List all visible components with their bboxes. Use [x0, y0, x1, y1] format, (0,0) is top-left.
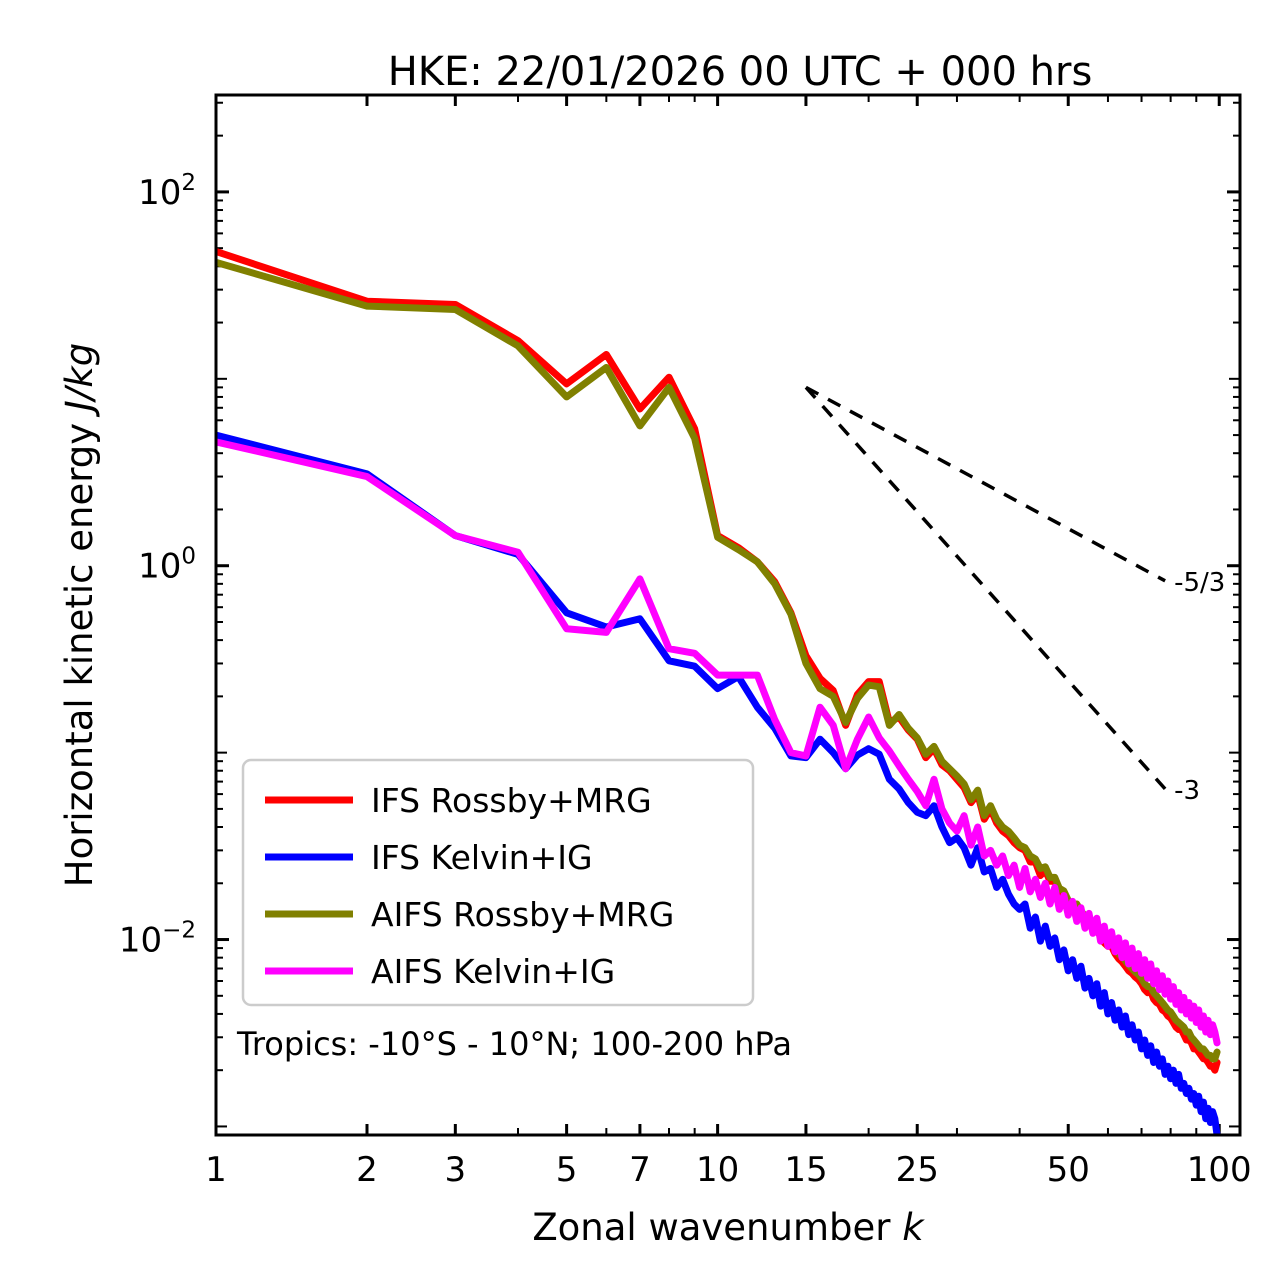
y-tick-mantissa: 10	[138, 173, 181, 213]
y-tick-label: 100	[138, 544, 196, 587]
domain-annotation: Tropics: -10°S - 10°N; 100-200 hPa	[236, 1025, 792, 1063]
hke-spectrum-chart: HKE: 22/01/2026 00 UTC + 000 hrs Horizon…	[0, 0, 1280, 1288]
reference-line-label: -5/3	[1174, 568, 1225, 598]
y-axis-label: Horizontal kinetic energy J/kg	[58, 343, 101, 887]
x-tick-label: 2	[356, 1150, 378, 1190]
y-axis-label-units: J/kg	[58, 343, 101, 418]
chart-annotations: Tropics: -10°S - 10°N; 100-200 hPa	[236, 1025, 792, 1063]
x-axis-label-main: Zonal wavenumber	[532, 1206, 902, 1249]
x-tick-label: 15	[784, 1150, 827, 1190]
svg-text:Horizontal kinetic energy J/kg: Horizontal kinetic energy J/kg	[58, 343, 101, 887]
legend-label: AIFS Kelvin+IG	[371, 952, 615, 991]
x-axis-label-symbol: k	[902, 1206, 925, 1249]
y-tick-exponent: 2	[181, 170, 196, 196]
chart-title: HKE: 22/01/2026 00 UTC + 000 hrs	[388, 49, 1093, 95]
legend-label: IFS Kelvin+IG	[371, 838, 593, 877]
legend-label: IFS Rossby+MRG	[371, 781, 652, 820]
x-tick-label: 10	[696, 1150, 739, 1190]
reference-line-label: -3	[1174, 776, 1200, 806]
chart-legend[interactable]: IFS Rossby+MRGIFS Kelvin+IGAIFS Rossby+M…	[243, 760, 753, 1005]
svg-text:Zonal wavenumber k: Zonal wavenumber k	[532, 1206, 925, 1249]
y-tick-exponent: −2	[162, 918, 196, 944]
y-tick-label: 102	[138, 170, 196, 213]
x-tick-label: 5	[556, 1150, 578, 1190]
y-tick-mantissa: 10	[119, 921, 162, 961]
y-tick-label: 10−2	[119, 918, 196, 961]
y-axis-label-main: Horizontal kinetic energy	[58, 411, 101, 887]
legend-label: AIFS Rossby+MRG	[371, 895, 674, 934]
x-tick-label: 7	[629, 1150, 651, 1190]
chart-page: HKE: 22/01/2026 00 UTC + 000 hrs Horizon…	[0, 0, 1280, 1288]
x-tick-label: 25	[896, 1150, 939, 1190]
x-tick-label: 100	[1187, 1150, 1252, 1190]
x-tick-label: 3	[445, 1150, 467, 1190]
x-tick-label: 1	[205, 1150, 227, 1190]
x-tick-label: 50	[1047, 1150, 1090, 1190]
x-axis-label: Zonal wavenumber k	[532, 1206, 925, 1249]
y-tick-mantissa: 10	[138, 547, 181, 587]
y-tick-exponent: 0	[181, 544, 196, 570]
